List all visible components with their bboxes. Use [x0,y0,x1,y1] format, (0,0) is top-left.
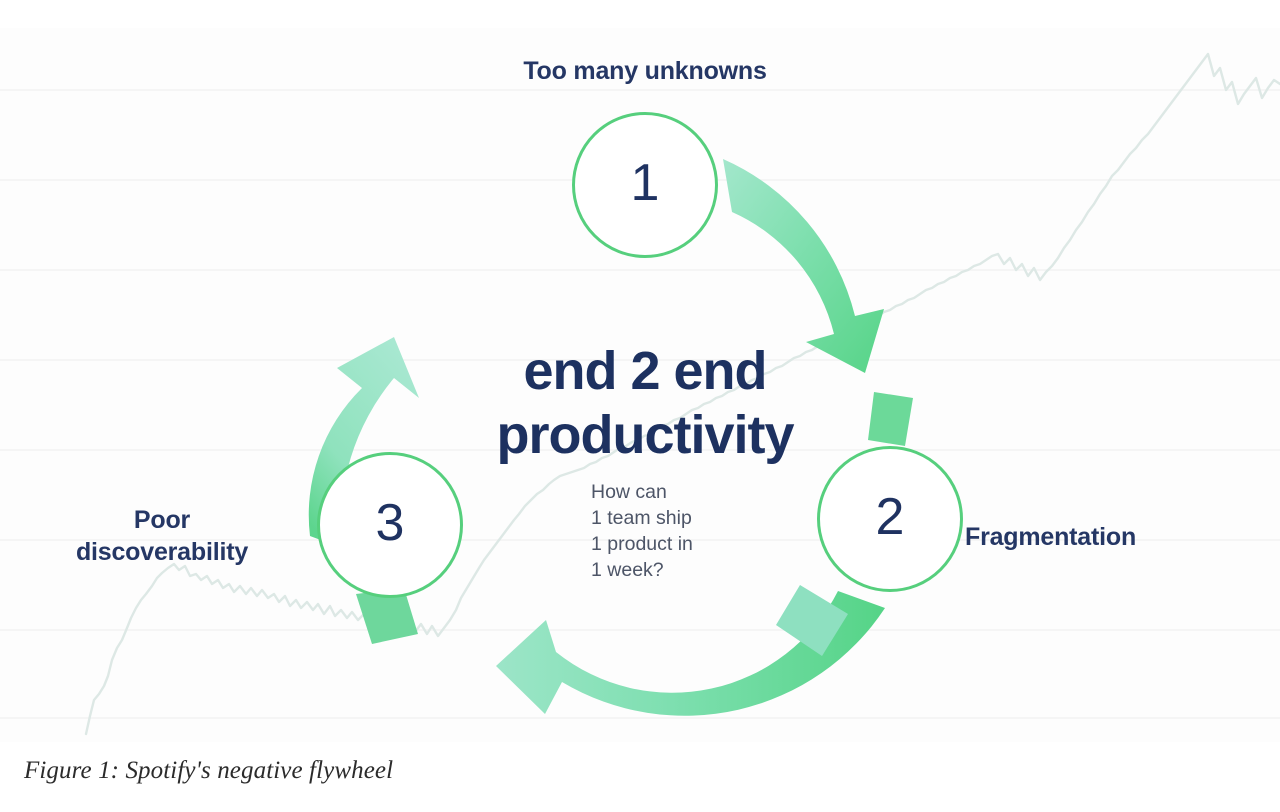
node-number-1: 1 [631,157,660,209]
node-circle-3[interactable]: 3 [317,452,463,598]
figure-container: 1 2 3 Too many unknowns Fragmentation Po… [0,0,1280,812]
figure-caption: Figure 1: Spotify's negative flywheel [24,757,393,785]
node-label-too-many-unknowns: Too many unknowns [395,56,895,88]
node-label-poor-discoverability: Poor discoverability [12,505,312,568]
center-subtext: How can 1 team ship 1 product in 1 week? [591,480,851,584]
node-number-3: 3 [376,497,405,549]
flywheel-figure: 1 2 3 Too many unknowns Fragmentation Po… [0,28,1280,742]
node-label-fragmentation: Fragmentation [965,522,1275,554]
node-circle-1[interactable]: 1 [572,112,718,258]
node-number-2: 2 [876,491,905,543]
center-title: end 2 end productivity [400,340,890,467]
